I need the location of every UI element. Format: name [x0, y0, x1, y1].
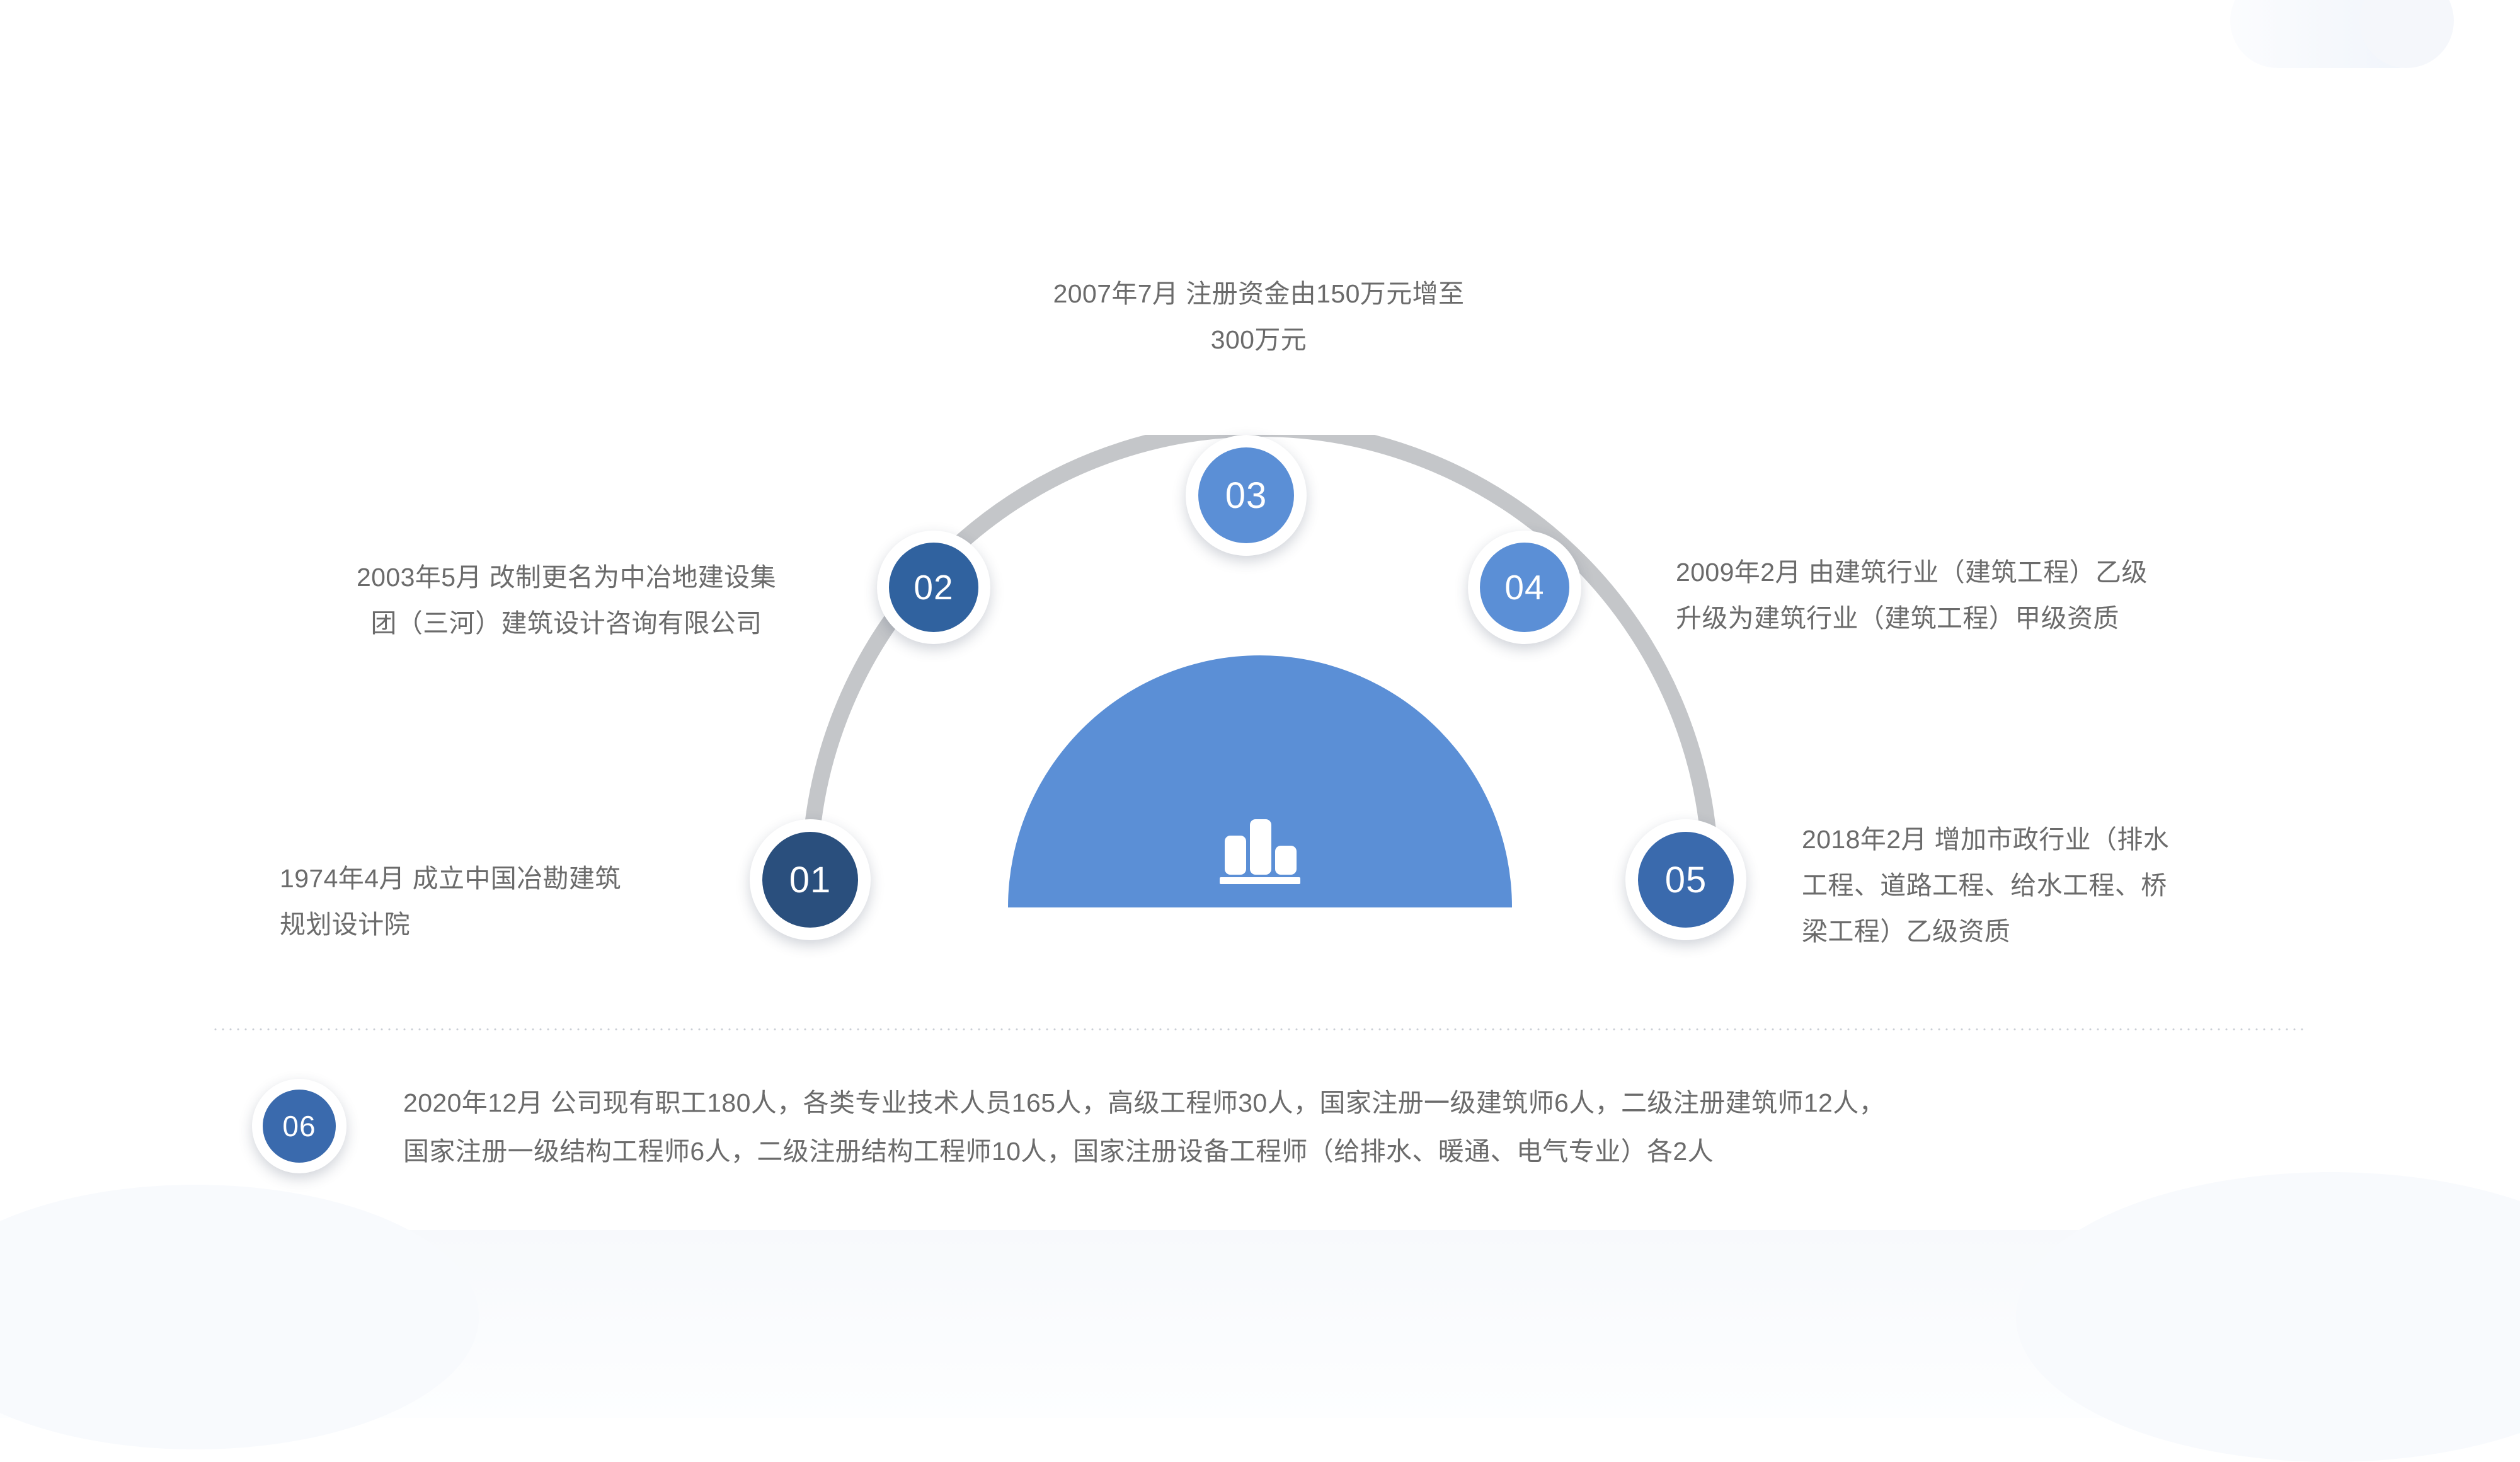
milestone-text-06: 2020年12月 公司现有职工180人，各类专业技术人员165人，高级工程师30… [403, 1079, 2407, 1176]
milestone-badge-04[interactable]: 04 [1468, 531, 1581, 644]
milestone-badge-01[interactable]: 01 [750, 819, 871, 940]
milestone-number-05: 05 [1638, 832, 1734, 928]
milestone-text-04: 2009年2月 由建筑行业（建筑工程）乙级 升级为建筑行业（建筑工程）甲级资质 [1676, 550, 2281, 642]
milestone-text-03: 2007年7月 注册资金由150万元增至 300万元 [937, 271, 1580, 363]
milestone-text-02: 2003年5月 改制更名为中冶地建设集 团（三河）建筑设计咨询有限公司 [280, 555, 853, 647]
dotted-divider [212, 1028, 2308, 1030]
milestone-badge-02[interactable]: 02 [877, 531, 990, 644]
bar-chart-icon [1216, 813, 1304, 889]
bottom-right-blob-decoration [2016, 1172, 2520, 1462]
milestone-badge-06[interactable]: 06 [252, 1079, 346, 1173]
milestone-number-02: 02 [889, 543, 978, 632]
milestone-badge-05[interactable]: 05 [1625, 819, 1746, 940]
milestone-text-01: 1974年4月 成立中国冶勘建筑 规划设计院 [280, 856, 746, 948]
milestone-number-06: 06 [263, 1090, 336, 1163]
milestone-badge-03[interactable]: 03 [1186, 435, 1307, 556]
milestone-text-05: 2018年2月 增加市政行业（排水 工程、道路工程、给水工程、桥 梁工程）乙级资… [1802, 817, 2281, 955]
milestone-number-03: 03 [1198, 447, 1294, 543]
milestone-number-01: 01 [762, 832, 858, 928]
milestone-number-04: 04 [1480, 543, 1569, 632]
